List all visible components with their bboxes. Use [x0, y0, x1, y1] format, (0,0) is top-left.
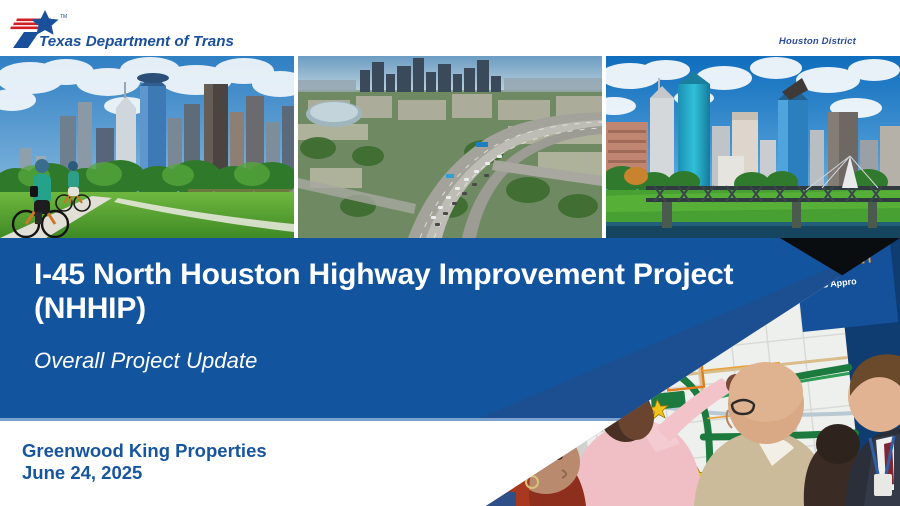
txdot-logo: TM Texas Department of Transportation — [8, 10, 233, 50]
photo-aerial-highway-interchange — [298, 56, 602, 238]
page-subtitle: Overall Project Update — [34, 348, 774, 374]
footer-organization: Greenwood King Properties — [22, 440, 267, 462]
attendee-red-hair — [460, 430, 586, 506]
slide-header: TM Texas Department of Transportation Ho… — [0, 0, 900, 56]
photo-skyline-pedestrian-bridge — [606, 56, 900, 238]
svg-text:TM: TM — [60, 14, 67, 20]
logo-star-icon — [31, 10, 58, 35]
photo-cyclists-houston-skyline — [0, 56, 294, 238]
logo-slash-icon — [13, 32, 39, 48]
header-photo-strip — [0, 56, 900, 238]
houston-district-label: Houston District — [779, 36, 856, 47]
footer-block: Greenwood King Properties June 24, 2025 — [22, 440, 267, 484]
title-block: I-45 North Houston Highway Improvement P… — [34, 258, 774, 374]
svg-text:Bayou: Bayou — [579, 424, 600, 433]
presentation-title-slide: TM Texas Department of Transportation Ho… — [0, 0, 900, 506]
page-title: I-45 North Houston Highway Improvement P… — [34, 258, 774, 326]
footer-date: June 24, 2025 — [22, 462, 267, 484]
logo-wordmark: Texas Department of Transportation — [39, 33, 233, 50]
